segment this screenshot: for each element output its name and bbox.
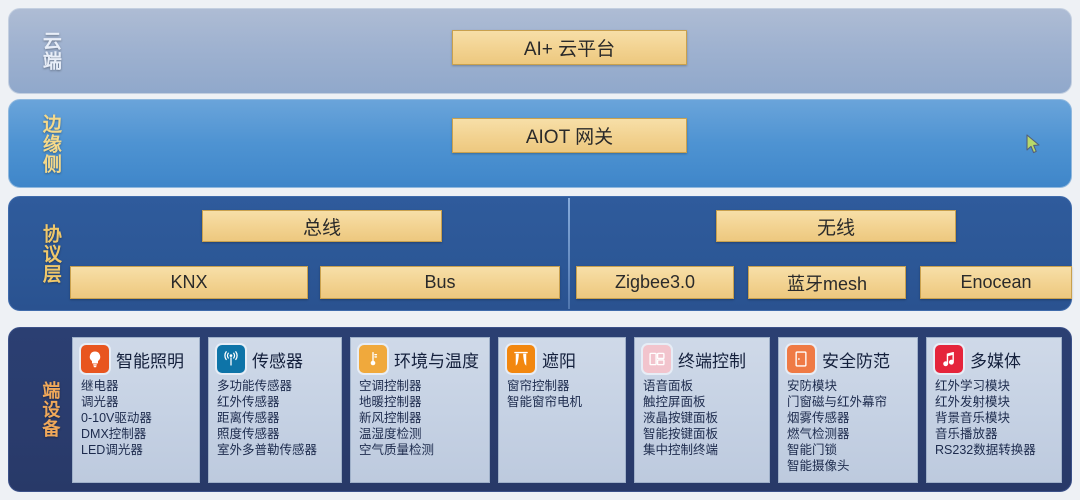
music-note-icon <box>935 345 963 373</box>
protocol-item-enocean[interactable]: Enocean <box>920 266 1072 299</box>
card-header: 智能照明 <box>81 345 191 373</box>
card-header: 环境与温度 <box>359 345 481 373</box>
card-item-list: 语音面板 触控屏面板 液晶按键面板 智能按键面板 集中控制终端 <box>643 378 761 458</box>
aiot-gateway-box[interactable]: AIOT 网关 <box>452 118 687 153</box>
list-item: 0-10V驱动器 <box>81 410 191 426</box>
protocol-item-knx[interactable]: KNX <box>70 266 308 299</box>
card-item-list: 红外学习模块 红外发射模块 背景音乐模块 音乐播放器 RS232数据转换器 <box>935 378 1053 458</box>
list-item: 门窗磁与红外幕帘 <box>787 394 909 410</box>
list-item: 智能门锁 <box>787 442 909 458</box>
layer-edge-label: 边缘侧 <box>33 100 67 187</box>
list-item: 红外传感器 <box>217 394 333 410</box>
list-item: 智能摄像头 <box>787 458 909 474</box>
device-card-media[interactable]: 多媒体 红外学习模块 红外发射模块 背景音乐模块 音乐播放器 RS232数据转换… <box>926 337 1062 483</box>
control-panel-icon <box>643 345 671 373</box>
list-item: 集中控制终端 <box>643 442 761 458</box>
card-item-list: 继电器 调光器 0-10V驱动器 DMX控制器 LED调光器 <box>81 378 191 458</box>
lightbulb-icon <box>81 345 109 373</box>
card-item-list: 多功能传感器 红外传感器 距离传感器 照度传感器 室外多普勒传感器 <box>217 378 333 458</box>
list-item: 多功能传感器 <box>217 378 333 394</box>
door-lock-icon <box>787 345 815 373</box>
list-item: 安防模块 <box>787 378 909 394</box>
list-item: 语音面板 <box>643 378 761 394</box>
list-item: 红外发射模块 <box>935 394 1053 410</box>
protocol-group-wired-heading[interactable]: 总线 <box>202 210 442 242</box>
curtain-icon <box>507 345 535 373</box>
list-item: 空气质量检测 <box>359 442 481 458</box>
list-item: 继电器 <box>81 378 191 394</box>
card-item-list: 窗帘控制器 智能窗帘电机 <box>507 378 617 410</box>
device-card-security[interactable]: 安全防范 安防模块 门窗磁与红外幕帘 烟雾传感器 燃气检测器 智能门锁 智能摄像… <box>778 337 918 483</box>
device-card-lighting[interactable]: 智能照明 继电器 调光器 0-10V驱动器 DMX控制器 LED调光器 <box>72 337 200 483</box>
protocol-group-wireless-heading[interactable]: 无线 <box>716 210 956 242</box>
list-item: DMX控制器 <box>81 426 191 442</box>
list-item: RS232数据转换器 <box>935 442 1053 458</box>
layer-protocol-label: 协议层 <box>33 197 67 310</box>
list-item: 燃气检测器 <box>787 426 909 442</box>
device-card-climate[interactable]: 环境与温度 空调控制器 地暖控制器 新风控制器 温湿度检测 空气质量检测 <box>350 337 490 483</box>
layer-cloud-label: 云端 <box>33 9 67 93</box>
list-item: 音乐播放器 <box>935 426 1053 442</box>
card-title: 智能照明 <box>116 347 184 372</box>
list-item: LED调光器 <box>81 442 191 458</box>
protocol-item-zigbee[interactable]: Zigbee3.0 <box>576 266 734 299</box>
cloud-platform-box[interactable]: AI+ 云平台 <box>452 30 687 65</box>
list-item: 温湿度检测 <box>359 426 481 442</box>
card-item-list: 安防模块 门窗磁与红外幕帘 烟雾传感器 燃气检测器 智能门锁 智能摄像头 <box>787 378 909 474</box>
list-item: 照度传感器 <box>217 426 333 442</box>
list-item: 智能按键面板 <box>643 426 761 442</box>
architecture-diagram: 云端 AI+ 云平台 边缘侧 AIOT 网关 协议层 总线 无线 KNX Bus… <box>0 0 1080 500</box>
device-card-terminal[interactable]: 终端控制 语音面板 触控屏面板 液晶按键面板 智能按键面板 集中控制终端 <box>634 337 770 483</box>
protocol-group-divider <box>568 198 570 309</box>
device-card-shading[interactable]: 遮阳 窗帘控制器 智能窗帘电机 <box>498 337 626 483</box>
list-item: 新风控制器 <box>359 410 481 426</box>
list-item: 液晶按键面板 <box>643 410 761 426</box>
list-item: 背景音乐模块 <box>935 410 1053 426</box>
card-header: 终端控制 <box>643 345 761 373</box>
list-item: 红外学习模块 <box>935 378 1053 394</box>
device-card-sensor[interactable]: 传感器 多功能传感器 红外传感器 距离传感器 照度传感器 室外多普勒传感器 <box>208 337 342 483</box>
protocol-item-bus[interactable]: Bus <box>320 266 560 299</box>
sensor-signal-icon <box>217 345 245 373</box>
card-title: 多媒体 <box>970 347 1021 372</box>
list-item: 触控屏面板 <box>643 394 761 410</box>
card-title: 环境与温度 <box>394 347 479 372</box>
card-item-list: 空调控制器 地暖控制器 新风控制器 温湿度检测 空气质量检测 <box>359 378 481 458</box>
list-item: 室外多普勒传感器 <box>217 442 333 458</box>
card-title: 安全防范 <box>822 347 890 372</box>
list-item: 空调控制器 <box>359 378 481 394</box>
list-item: 距离传感器 <box>217 410 333 426</box>
card-title: 遮阳 <box>542 347 576 372</box>
list-item: 调光器 <box>81 394 191 410</box>
card-title: 传感器 <box>252 347 303 372</box>
card-header: 多媒体 <box>935 345 1053 373</box>
device-card-list: 智能照明 继电器 调光器 0-10V驱动器 DMX控制器 LED调光器 <box>72 337 1052 483</box>
card-header: 遮阳 <box>507 345 617 373</box>
protocol-item-bluetooth-mesh[interactable]: 蓝牙mesh <box>748 266 906 299</box>
list-item: 窗帘控制器 <box>507 378 617 394</box>
card-title: 终端控制 <box>678 347 746 372</box>
layer-device-label: 端设备 <box>33 328 67 491</box>
thermometer-icon <box>359 345 387 373</box>
list-item: 烟雾传感器 <box>787 410 909 426</box>
list-item: 智能窗帘电机 <box>507 394 617 410</box>
card-header: 传感器 <box>217 345 333 373</box>
card-header: 安全防范 <box>787 345 909 373</box>
list-item: 地暖控制器 <box>359 394 481 410</box>
